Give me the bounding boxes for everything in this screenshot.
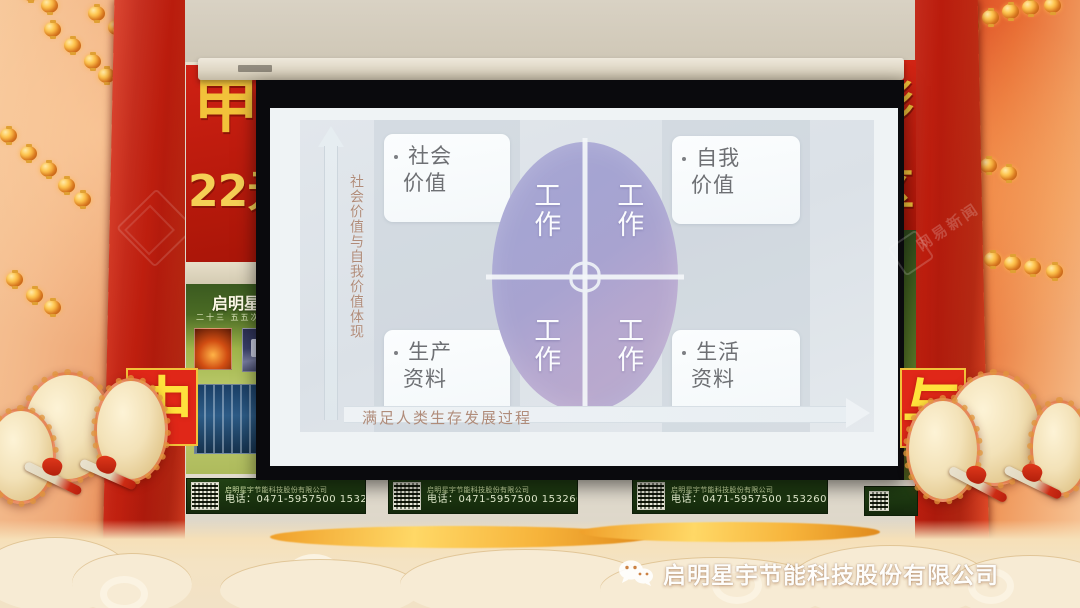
poster-green-title: 启明星 [212,290,260,314]
quadrant-label: 工作 [531,181,559,239]
card-text-line1: 生活 [696,340,740,364]
screenshot-root: 申 22元 启明星 二十三 五五次 彭 区 燃气入口 启明星宇节能科技股份有限公… [0,0,1080,608]
poster-red-char: 申 [194,75,258,136]
card-text-line1: 自我 [696,146,740,170]
horizontal-axis-label: 满足人类生存发展过程 [362,407,532,428]
card-text-line1: 生产 [408,340,452,364]
qr-code-icon [869,491,889,511]
bullet-dot-icon [682,351,686,355]
refresh-cycle-icon [564,254,606,300]
drum-rim [903,395,983,505]
banner-strip-2: 启明星宇节能科技股份有限公司 电话：0471-5957500 153260497… [388,478,578,514]
banner-text-group: 启明星宇节能科技股份有限公司 电话：0471-5957500 153260497… [225,486,366,506]
drum-mid-right [906,398,980,502]
circle-diagram: 工作 工作 工作 工作 [492,142,678,412]
projector-screen-housing [198,58,904,80]
qr-code-icon [637,482,665,510]
card-text-line2: 价值 [394,170,500,197]
banner-phone: 电话：0471-5957500 15326049717 [671,494,828,506]
banner-strip-1: 启明星宇节能科技股份有限公司 电话：0471-5957500 153260497… [186,478,366,514]
arrow-head-right [846,398,870,428]
quadrant-label: 工作 [614,316,642,374]
wechat-account-name: 启明星宇节能科技股份有限公司 [663,556,999,590]
banner-strip-4 [864,486,918,516]
poster-green-subtitle: 二十三 五五次 [196,312,261,323]
quadrant-label: 工作 [531,316,559,374]
arrow-head-up [318,126,344,147]
projector-screen-surface: 社会价值与自我价值体现 社会 价值 自我 价值 生产 [270,108,898,466]
cloud-puff [220,560,420,608]
card-text-line1: 社会 [408,144,452,168]
vertical-axis-label: 社会价值与自我价值体现 [346,174,366,339]
gold-swoosh [580,522,880,542]
banner-strip-3: 启明星宇节能科技股份有限公司 电话：0471-5957500 153260497… [632,478,828,514]
card-text-line2: 价值 [682,172,790,199]
slide-plate: 社会价值与自我价值体现 社会 价值 自我 价值 生产 [300,120,874,432]
arrow-shaft-vertical [324,146,338,420]
bullet-dot-icon [682,157,686,161]
card-text-line2: 资料 [682,366,790,393]
quadrant-label: 工作 [614,181,642,239]
poster-photo-flame [194,328,232,370]
wechat-icon [618,559,654,587]
bullet-dot-icon [394,351,398,355]
card-self-value: 自我 价值 [672,136,800,224]
horizontal-axis-arrow: 满足人类生存发展过程 [344,400,870,430]
wall-upper-band [185,0,915,62]
banner-phone: 电话：0471-5957500 15326049717 [225,494,366,506]
wechat-watermark: 启明星宇节能科技股份有限公司 [618,556,999,590]
qr-code-icon [191,482,219,510]
presentation-slide: 社会价值与自我价值体现 社会 价值 自我 价值 生产 [270,108,898,466]
drum-edge-left [0,408,56,504]
banner-phone: 电话：0471-5957500 15326049717 [427,494,578,506]
bullet-dot-icon [394,155,398,159]
housing-brand-logo [238,65,272,72]
cloud-ring [100,576,148,608]
card-text-line2: 资料 [394,366,500,393]
banner-text-group: 启明星宇节能科技股份有限公司 电话：0471-5957500 153260497… [427,486,578,506]
qr-code-icon [393,482,421,510]
projector-screen-frame: 社会价值与自我价值体现 社会 价值 自我 价值 生产 [256,80,904,480]
banner-text-group: 启明星宇节能科技股份有限公司 电话：0471-5957500 153260497… [671,486,828,506]
vertical-axis-arrow [318,126,344,420]
